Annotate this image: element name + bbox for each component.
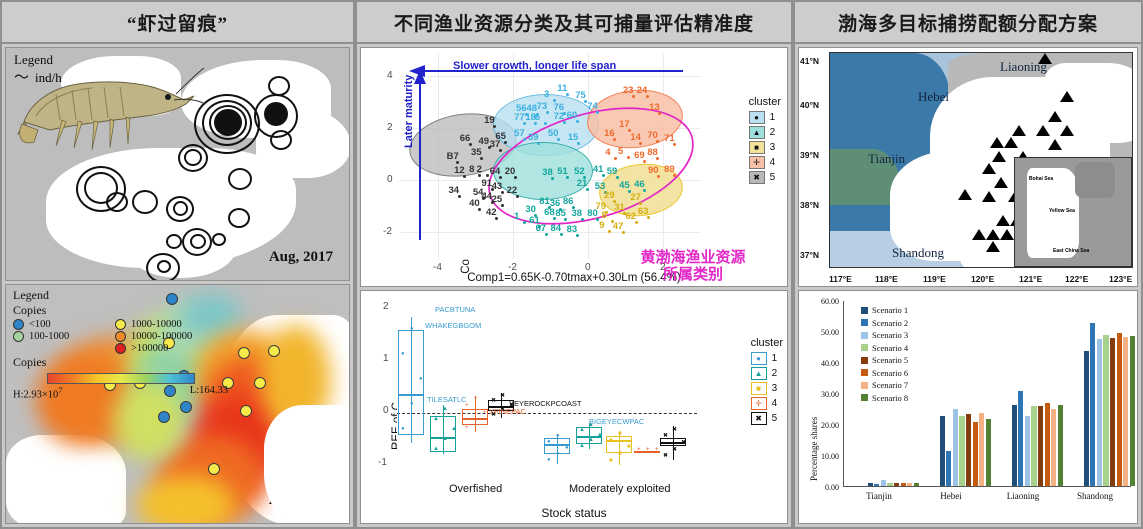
quota-shares-chart: Percentage shares Scenario 1Scenario 2Sc… bbox=[798, 290, 1138, 524]
legend-label: Scenario 1 bbox=[872, 305, 908, 315]
cluster-label: 1 bbox=[772, 353, 778, 364]
land-shape bbox=[264, 405, 350, 524]
class-swatch-icon bbox=[13, 319, 24, 330]
bar-category-label: Hebei bbox=[915, 491, 987, 501]
bar-y-tick: 10.00 bbox=[801, 452, 839, 461]
map-label-tianjin: Tianjin bbox=[868, 151, 905, 167]
pca-point-marker bbox=[560, 233, 563, 236]
class-label: 100-1000 bbox=[29, 331, 69, 342]
pca-ytick: 2 bbox=[387, 122, 393, 133]
pca-ytick: 0 bbox=[387, 174, 393, 185]
map-frame: Liaoning Hebei Tianjin Shandong bbox=[829, 52, 1133, 268]
station-marker bbox=[1036, 125, 1050, 136]
legend-swatch-icon bbox=[861, 319, 868, 326]
cluster-label: 2 bbox=[772, 368, 778, 379]
boxplot-jitter-point: ✖ bbox=[681, 439, 686, 446]
boxplot-jitter-point: ● bbox=[565, 445, 569, 451]
ramp-low-label: L:164.33 bbox=[190, 385, 228, 401]
cluster-swatch-4-icon: ✛ bbox=[749, 156, 765, 169]
bar-legend-item[interactable]: Scenario 1 bbox=[861, 305, 908, 315]
station-marker bbox=[996, 215, 1010, 226]
legend-swatch-icon bbox=[861, 394, 868, 401]
boxplot-jitter-point: ■ bbox=[609, 458, 613, 464]
contour-ring bbox=[132, 190, 158, 214]
bar-shandong-s8 bbox=[1130, 336, 1135, 486]
legend-swatch-icon bbox=[861, 357, 868, 364]
pca-point-label: 5 bbox=[618, 146, 623, 157]
contour-ring bbox=[228, 208, 250, 228]
inset-label-eastchina: East China Sea bbox=[1053, 248, 1089, 254]
pca-point-label: 43 bbox=[492, 181, 503, 192]
bar-y-tick: 30.00 bbox=[801, 390, 839, 399]
legend-item[interactable]: ✖ 5 bbox=[751, 412, 783, 425]
bar-tianjin-s1 bbox=[868, 483, 873, 486]
bar-liaoning-s3 bbox=[1025, 416, 1030, 486]
station-marker bbox=[1038, 53, 1052, 64]
legend-item[interactable]: ▲ 2 bbox=[751, 367, 783, 380]
bar-liaoning-s5 bbox=[1038, 406, 1043, 486]
bar-legend-item[interactable]: Scenario 8 bbox=[861, 393, 908, 403]
station-marker bbox=[994, 177, 1008, 188]
station-marker bbox=[958, 189, 972, 200]
site-marker bbox=[268, 345, 280, 357]
pca-point-label: 84 bbox=[551, 223, 562, 234]
boxplot-jitter-point: + bbox=[646, 447, 650, 453]
contour-ring bbox=[190, 234, 206, 249]
bar-shandong-s7 bbox=[1123, 337, 1128, 486]
boxplot-jitter-point: ■ bbox=[609, 438, 613, 444]
cluster-label: 1 bbox=[770, 112, 776, 123]
boxplot-jitter-point: + bbox=[474, 418, 478, 424]
boxplot-ytick: -1 bbox=[378, 457, 387, 468]
legend-class: >100000 bbox=[115, 343, 228, 354]
pca-point-marker bbox=[658, 112, 661, 115]
station-marker bbox=[1048, 139, 1062, 150]
pca-point-marker bbox=[622, 231, 625, 234]
pca-plot-area: 3117556487376742324137718672601966654937… bbox=[401, 54, 701, 259]
lon-tick: 119°E bbox=[923, 274, 946, 284]
cluster-label: 3 bbox=[770, 142, 776, 153]
pca-point-marker bbox=[544, 122, 547, 125]
pca-ytick: 4 bbox=[387, 70, 393, 81]
bar-liaoning-s6 bbox=[1045, 403, 1050, 486]
legend-swatch-icon bbox=[861, 369, 868, 376]
pca-point-label: 1 bbox=[514, 211, 519, 222]
map-label-shandong: Shandong bbox=[892, 245, 944, 261]
bar-liaoning-s4 bbox=[1031, 406, 1036, 486]
boxplot-jitter-point: ● bbox=[410, 326, 414, 332]
ramp-wrap bbox=[13, 370, 228, 384]
shrimp-map-date: Aug, 2017 bbox=[269, 249, 333, 266]
bar-chart-legend: Scenario 1Scenario 2Scenario 3Scenario 4… bbox=[861, 305, 908, 405]
pca-point-marker bbox=[577, 142, 580, 145]
legend-item[interactable]: ✛ 4 bbox=[749, 156, 781, 169]
cluster-label: 4 bbox=[772, 398, 778, 409]
class-swatch-icon bbox=[115, 331, 126, 342]
legend-label: Scenario 2 bbox=[872, 318, 908, 328]
pca-point-label: 88 bbox=[647, 147, 658, 158]
bar-tianjin-s2 bbox=[874, 484, 879, 486]
legend-item[interactable]: ● 1 bbox=[749, 111, 781, 124]
bohai-station-map: Liaoning Hebei Tianjin Shandong bbox=[798, 47, 1138, 287]
legend-item[interactable]: ■ 3 bbox=[749, 141, 781, 154]
bar-shandong-s1 bbox=[1084, 351, 1089, 486]
site-marker bbox=[240, 405, 252, 417]
bar-legend-item[interactable]: Scenario 5 bbox=[861, 355, 908, 365]
panel-middle: 不同渔业资源分类及其可捕量评估精准度 Comp2=0.93Lm-0.37K+0.… bbox=[355, 0, 793, 529]
bar-hebei-s6 bbox=[973, 422, 978, 486]
pca-point-marker bbox=[516, 195, 519, 198]
bar-y-tick: 40.00 bbox=[801, 359, 839, 368]
pca-point-marker bbox=[632, 95, 635, 98]
legend-swatch-icon bbox=[861, 307, 868, 314]
pca-point-marker bbox=[616, 176, 619, 179]
boxplot-jitter-point: ▲ bbox=[579, 443, 585, 449]
class-swatch-icon bbox=[13, 331, 24, 342]
cluster-label: 2 bbox=[770, 127, 776, 138]
boxplot-cluster-legend: cluster ● 1 ▲ 2 ■ 3 ✛ 4 ✖ 5 bbox=[751, 337, 783, 427]
vertical-annotation-arrow bbox=[419, 80, 421, 240]
bar-hebei-s7 bbox=[979, 413, 984, 486]
lat-tick: 41°N bbox=[800, 56, 819, 66]
pca-point-label: 23 bbox=[623, 85, 634, 96]
pca-point-label: 49 bbox=[479, 136, 490, 147]
pca-point-label: 73 bbox=[537, 101, 548, 112]
boxplot-jitter-point: ▲ bbox=[433, 446, 439, 452]
legend-swatch-icon bbox=[861, 332, 868, 339]
class-label: 1000-10000 bbox=[131, 319, 182, 330]
boxplot-jitter-point: ✖ bbox=[672, 426, 677, 433]
legend-label: Scenario 4 bbox=[872, 343, 908, 353]
lat-tick: 40°N bbox=[800, 100, 819, 110]
pca-point-marker bbox=[627, 156, 630, 159]
pca-point-label: 25 bbox=[492, 194, 503, 205]
pca-point-marker bbox=[546, 111, 549, 114]
ree-boxplot-chart: REE of CFmsy_T+1 Stock status ●●●●●▲▲▲▲▲… bbox=[360, 290, 788, 524]
pca-ytick: -2 bbox=[383, 226, 392, 237]
pca-point-marker bbox=[646, 95, 649, 98]
bar-tianjin-s6 bbox=[901, 483, 906, 486]
site-marker bbox=[180, 401, 192, 413]
arrow-head-up-icon bbox=[413, 70, 427, 86]
bar-legend-item[interactable]: Scenario 7 bbox=[861, 380, 908, 390]
pca-point-marker bbox=[657, 175, 660, 178]
boxplot-jitter-point: + bbox=[637, 447, 641, 453]
pca-point-marker bbox=[486, 174, 489, 177]
boxplot-jitter-point: ● bbox=[401, 351, 405, 357]
pca-xtick: -4 bbox=[433, 262, 442, 273]
boxplot-jitter-point: + bbox=[474, 396, 478, 402]
boxplot-jitter-point: ■ bbox=[618, 431, 622, 437]
legend-class-grid: <100 1000-10000 100-1000 10000-100000 bbox=[13, 319, 228, 354]
cluster-swatch-3-icon: ■ bbox=[751, 382, 767, 395]
station-marker bbox=[982, 191, 996, 202]
boxplot-jitter-point: ■ bbox=[627, 444, 631, 450]
cluster-label: 5 bbox=[772, 413, 778, 424]
site-marker bbox=[158, 411, 170, 423]
boxplot-x-axis-title: Stock status bbox=[361, 506, 787, 520]
bohai-sea-area bbox=[1045, 63, 1133, 143]
boxplot-plot-area: ●●●●●▲▲▲▲▲+++++✖✖✖✖✖●●●●●▲▲▲▲▲■■■■■+++++… bbox=[397, 299, 697, 477]
station-marker bbox=[1012, 125, 1026, 136]
legend-class: 10000-100000 bbox=[115, 331, 228, 342]
cluster-swatch-4-icon: ✛ bbox=[751, 397, 767, 410]
shrimp-distribution-map: Legend 〜 ind/h Aug, 2017 bbox=[5, 47, 350, 281]
station-marker bbox=[972, 229, 986, 240]
lat-tick: 38°N bbox=[800, 200, 819, 210]
boxplot-jitter-point: + bbox=[465, 425, 469, 431]
bar-tianjin-s5 bbox=[894, 483, 899, 486]
pca-point-marker bbox=[576, 120, 579, 123]
pca-point-label: 6 bbox=[535, 112, 540, 123]
panel-left: “虾过留痕” bbox=[0, 0, 355, 529]
bar-tianjin-s8 bbox=[914, 483, 919, 486]
legend-title: Legend bbox=[14, 52, 62, 68]
class-label: <100 bbox=[29, 319, 51, 330]
legend-swatch-icon bbox=[861, 382, 868, 389]
legend-subtitle-copies: Copies bbox=[13, 303, 228, 318]
boxplot-jitter-point: ● bbox=[547, 439, 551, 445]
pca-point-marker bbox=[545, 233, 548, 236]
pca-point-label: 60 bbox=[567, 110, 578, 121]
pca-point-marker bbox=[456, 161, 459, 164]
pca-point-label: 9 bbox=[599, 220, 604, 231]
bar-hebei-s5 bbox=[966, 414, 971, 486]
pca-point-label: 30 bbox=[525, 204, 536, 215]
inset-land bbox=[1075, 162, 1115, 198]
bar-shandong-s3 bbox=[1097, 339, 1102, 486]
boxplot-jitter-point: ✖ bbox=[663, 432, 668, 439]
bar-liaoning-s1 bbox=[1012, 405, 1017, 486]
copies-map-legend: Legend Copies <100 1000-10000 100-1000 bbox=[13, 288, 228, 401]
pca-point-label: 15 bbox=[568, 132, 579, 143]
bar-hebei-s4 bbox=[959, 416, 964, 486]
pca-point-label: 59 bbox=[607, 166, 618, 177]
bar-tianjin-s3 bbox=[881, 480, 886, 486]
boxplot-jitter-point: ● bbox=[556, 451, 560, 457]
station-marker bbox=[1000, 229, 1014, 240]
pca-point-label: 24 bbox=[637, 85, 648, 96]
station-marker bbox=[1048, 111, 1062, 122]
lon-tick: 117°E bbox=[829, 274, 852, 284]
cluster-label: 3 bbox=[772, 383, 778, 394]
pca-point-marker bbox=[495, 217, 498, 220]
lon-tick: 120°E bbox=[971, 274, 994, 284]
contour-core bbox=[264, 102, 288, 126]
boxplot-jitter-point: ▲ bbox=[451, 426, 457, 432]
site-marker bbox=[164, 523, 176, 524]
boxplot-jitter-point: ● bbox=[419, 376, 423, 382]
boxplot-jitter-point: ● bbox=[547, 457, 551, 463]
legend-label: Scenario 7 bbox=[872, 380, 908, 390]
boxplot-jitter-point: ✖ bbox=[672, 446, 677, 453]
pca-point-marker bbox=[576, 234, 579, 237]
boxplot-jitter-point: + bbox=[483, 410, 487, 416]
land-shape bbox=[6, 435, 126, 524]
lon-tick: 118°E bbox=[875, 274, 898, 284]
boxplot-category-label: Overfished bbox=[449, 483, 502, 495]
pca-xtick: 0 bbox=[585, 262, 591, 273]
legend-item[interactable]: ■ 3 bbox=[751, 382, 783, 395]
cluster-swatch-2-icon: ▲ bbox=[751, 367, 767, 380]
boxplot-ytick: 0 bbox=[383, 405, 389, 416]
boxplot-jitter-point: ✖ bbox=[500, 392, 505, 399]
pca-point-marker bbox=[581, 218, 584, 221]
bar-legend-item[interactable]: Scenario 2 bbox=[861, 318, 908, 328]
pca-biplot-chart: Comp2=0.93Lm-0.37K+0.05tmax (32.1%) Comp… bbox=[360, 47, 788, 287]
boxplot-whisker bbox=[443, 405, 444, 454]
boxplot-ytick: 2 bbox=[383, 301, 389, 312]
contour-ring bbox=[268, 76, 290, 96]
bar-legend-item[interactable]: Scenario 3 bbox=[861, 330, 908, 340]
cluster-swatch-5-icon: ✖ bbox=[749, 171, 765, 184]
pca-point-marker bbox=[458, 195, 461, 198]
legend-swatch-icon bbox=[861, 344, 868, 351]
station-marker bbox=[986, 229, 1000, 240]
bar-y-tick: 50.00 bbox=[801, 328, 839, 337]
cluster-label: 4 bbox=[770, 157, 776, 168]
station-marker bbox=[1004, 137, 1018, 148]
station-marker bbox=[1060, 91, 1074, 102]
legend-class: 100-1000 bbox=[13, 331, 105, 342]
pca-point-marker bbox=[596, 111, 599, 114]
boxplot-whisker bbox=[411, 317, 412, 443]
pca-xtick: -2 bbox=[508, 262, 517, 273]
boxplot-ytick: 1 bbox=[383, 353, 389, 364]
legend-title: cluster bbox=[751, 337, 783, 349]
legend-class: 1000-10000 bbox=[115, 319, 228, 330]
boxplot-species-label: PACBTUNA bbox=[435, 305, 475, 314]
legend-unit-label: ind/h bbox=[35, 70, 62, 86]
site-marker bbox=[238, 347, 250, 359]
station-marker bbox=[982, 163, 996, 174]
class-label: >100000 bbox=[131, 343, 168, 354]
lat-tick: 39°N bbox=[800, 150, 819, 160]
boxplot-species-label: YFINEPAC bbox=[489, 407, 526, 416]
class-swatch-icon bbox=[115, 319, 126, 330]
legend-item[interactable]: ● 1 bbox=[751, 352, 783, 365]
boxplot-jitter-point: ▲ bbox=[442, 436, 448, 442]
inset-label-bohai: Bohai Sea bbox=[1029, 176, 1053, 182]
boxplot-species-label: BIGEYECWPAC bbox=[589, 417, 644, 426]
color-ramp-icon bbox=[47, 373, 195, 384]
panel-middle-title: 不同渔业资源分类及其可捕量评估精准度 bbox=[357, 2, 791, 44]
ramp-high-label: H:2.93×107 bbox=[13, 385, 63, 401]
pca-point-label: 8 bbox=[469, 164, 474, 175]
boxplot-jitter-point: ✖ bbox=[491, 397, 496, 404]
legend-title: Legend bbox=[13, 288, 228, 303]
panel-right: 渤海多目标捕捞配额分配方案 Liaoning Hebei Tianjin Sha… bbox=[793, 0, 1143, 529]
annotation-cluster-membership: 黄渤海渔业资源所属类别 bbox=[613, 250, 773, 285]
bar-shandong-s5 bbox=[1110, 338, 1115, 486]
ramp-labels: H:2.93×107 L:164.33 bbox=[13, 385, 228, 401]
bar-category-label: Shandong bbox=[1059, 491, 1131, 501]
class-swatch-icon bbox=[115, 343, 126, 354]
legend-entry-indh: 〜 ind/h bbox=[14, 70, 62, 86]
boxplot-jitter-point: ▲ bbox=[579, 427, 585, 433]
land-shape bbox=[126, 218, 236, 278]
boxplot-jitter-point: ✖ bbox=[663, 452, 668, 459]
shrimp-map-legend: Legend 〜 ind/h bbox=[14, 52, 62, 86]
bar-legend-item[interactable]: Scenario 4 bbox=[861, 343, 908, 353]
pca-point-marker bbox=[586, 188, 589, 191]
bar-shandong-s6 bbox=[1117, 333, 1122, 486]
pca-point-label: 4 bbox=[605, 147, 610, 158]
pca-point-marker bbox=[499, 149, 502, 152]
bar-legend-item[interactable]: Scenario 6 bbox=[861, 368, 908, 378]
lon-tick: 121°E bbox=[1019, 274, 1042, 284]
pca-point-label: 67 bbox=[536, 223, 547, 234]
contour-ring bbox=[157, 260, 171, 273]
site-marker bbox=[254, 377, 266, 389]
map-inset: Bohai Sea Yellow Sea East China Sea bbox=[1014, 157, 1132, 267]
legend-item[interactable]: ✛ 4 bbox=[751, 397, 783, 410]
bar-shandong-s4 bbox=[1103, 335, 1108, 486]
class-label: 10000-100000 bbox=[131, 331, 192, 342]
bar-liaoning-s8 bbox=[1058, 405, 1063, 486]
cluster-swatch-3-icon: ■ bbox=[749, 141, 765, 154]
cluster-swatch-2-icon: ▲ bbox=[749, 126, 765, 139]
bar-liaoning-s7 bbox=[1051, 409, 1056, 486]
boxplot-species-label: YEYEROCKPCOAST bbox=[509, 399, 582, 408]
pca-point-marker bbox=[478, 208, 481, 211]
bar-hebei-s3 bbox=[953, 409, 958, 486]
boxplot-jitter-point: ▲ bbox=[442, 406, 448, 412]
boxplot-jitter-point: ● bbox=[410, 401, 414, 407]
boxplot-jitter-point: ■ bbox=[618, 451, 622, 457]
bar-hebei-s8 bbox=[986, 419, 991, 486]
poster-root: “虾过留痕” bbox=[0, 0, 1143, 529]
bar-tianjin-s4 bbox=[887, 483, 892, 486]
panel-left-title: “虾过留痕” bbox=[2, 2, 353, 44]
boxplot-jitter-point: ● bbox=[556, 433, 560, 439]
annotation-later-maturity: Later maturity bbox=[403, 75, 415, 148]
cluster-swatch-5-icon: ✖ bbox=[751, 412, 767, 425]
boxplot-jitter-point: ▲ bbox=[433, 416, 439, 422]
panel-right-title: 渤海多目标捕捞配额分配方案 bbox=[795, 2, 1141, 44]
pca-point-label: 3 bbox=[544, 89, 549, 100]
lon-tick: 122°E bbox=[1065, 274, 1088, 284]
legend-label: Scenario 5 bbox=[872, 355, 908, 365]
legend-label: Scenario 8 bbox=[872, 393, 908, 403]
legend-item[interactable]: ▲ 2 bbox=[749, 126, 781, 139]
pca-point-label: 8 bbox=[602, 210, 607, 221]
station-marker bbox=[986, 241, 1000, 252]
pca-point-label: 37 bbox=[490, 139, 501, 150]
pca-point-label: 63 bbox=[638, 206, 649, 217]
legend-label: Scenario 3 bbox=[872, 330, 908, 340]
bar-tianjin-s7 bbox=[907, 483, 912, 486]
boxplot-jitter-point: + bbox=[655, 447, 659, 453]
boxplot-category-label: Moderately exploited bbox=[569, 483, 671, 495]
pca-point-label: B7 bbox=[447, 151, 459, 162]
contour-ring bbox=[173, 201, 188, 216]
boxplot-jitter-point: ● bbox=[401, 426, 405, 432]
annotation-slower-growth: Slower growth, longer life span bbox=[453, 60, 616, 72]
pca-point-marker bbox=[514, 176, 517, 179]
pca-cluster-legend: cluster ● 1 ▲ 2 ■ 3 ✛ 4 ✖ 5 bbox=[749, 96, 781, 186]
bar-shandong-s2 bbox=[1090, 323, 1095, 486]
pca-point-label: 20 bbox=[505, 166, 516, 177]
bar-hebei-s2 bbox=[946, 451, 951, 486]
boxplot-species-label: WHAKEGBGOM bbox=[425, 321, 481, 330]
legend-title: cluster bbox=[749, 96, 781, 108]
cluster-label: 5 bbox=[770, 172, 776, 183]
cluster-swatch-1-icon: ● bbox=[749, 111, 765, 124]
pca-point-marker bbox=[647, 216, 650, 219]
legend-item[interactable]: ✖ 5 bbox=[749, 171, 781, 184]
map-label-hebei: Hebei bbox=[918, 89, 949, 105]
